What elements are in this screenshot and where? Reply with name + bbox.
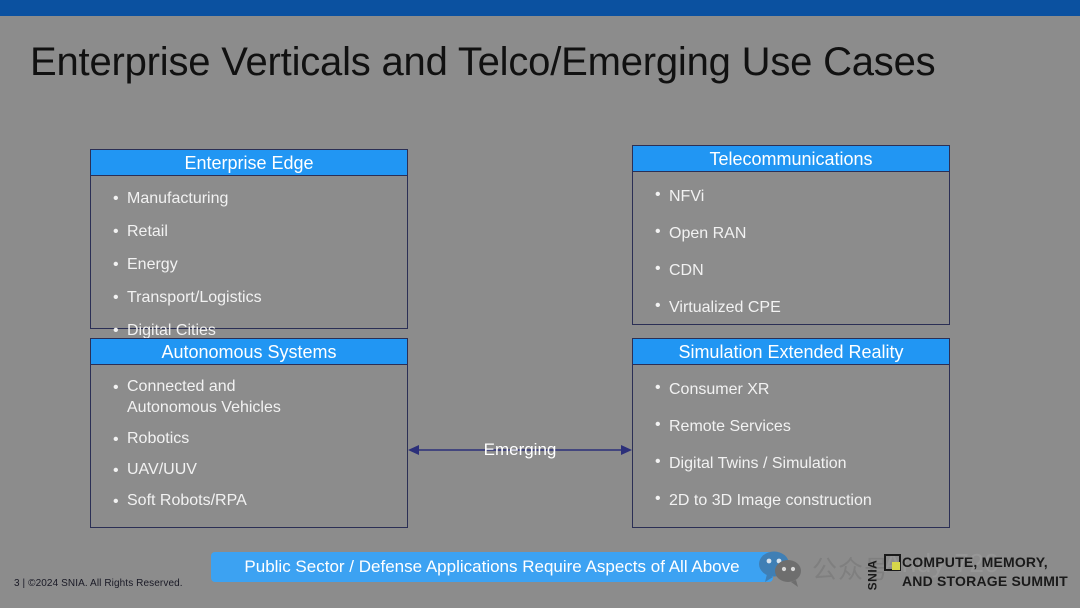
panel-telecommunications: Telecommunications • NFVi • Open RAN • C… (632, 145, 950, 325)
snia-logo: SNIA COMPUTE, MEMORY, AND STORAGE SUMMIT (866, 550, 1080, 598)
panel-autonomous-systems-title: Autonomous Systems (91, 339, 407, 365)
page-title: Enterprise Verticals and Telco/Emerging … (30, 40, 1050, 85)
list-item-label: UAV/UUV (127, 459, 197, 480)
bullet-icon: • (113, 460, 119, 481)
list-item: • Connected and Autonomous Vehicles (91, 371, 407, 423)
snia-brand-mark: SNIA (866, 554, 906, 594)
list-item: • Remote Services (633, 408, 949, 445)
bullet-icon: • (113, 429, 119, 450)
panel-telecommunications-title: Telecommunications (633, 146, 949, 172)
snia-summit-line2: AND STORAGE SUMMIT (902, 572, 1068, 591)
list-item: • Virtualized CPE (633, 289, 949, 326)
list-item: • Retail (91, 215, 407, 248)
snia-summit-line1: COMPUTE, MEMORY, (902, 553, 1068, 572)
list-item: • Transport/Logistics (91, 281, 407, 314)
bullet-icon: • (655, 221, 661, 242)
bullet-icon: • (655, 451, 661, 472)
list-item: • CDN (633, 252, 949, 289)
list-item-label: CDN (669, 260, 704, 281)
list-item: • UAV/UUV (91, 454, 407, 485)
list-item-label: Remote Services (669, 416, 791, 437)
bullet-icon: • (655, 258, 661, 279)
list-item: • Robotics (91, 423, 407, 454)
panel-enterprise-edge-list: • Manufacturing • Retail • Energy • Tran… (91, 176, 407, 351)
list-item-label: NFVi (669, 186, 704, 207)
list-item-label: 2D to 3D Image construction (669, 490, 872, 511)
list-item-label: Manufacturing (127, 188, 228, 209)
panel-autonomous-systems-list: • Connected and Autonomous Vehicles • Ro… (91, 365, 407, 520)
emerging-connector: Emerging (408, 435, 632, 465)
list-item: • Soft Robots/RPA (91, 485, 407, 516)
panel-enterprise-edge-title: Enterprise Edge (91, 150, 407, 176)
list-item-label: Robotics (127, 428, 189, 449)
snia-summit-text: COMPUTE, MEMORY, AND STORAGE SUMMIT (902, 553, 1068, 591)
panel-autonomous-systems: Autonomous Systems • Connected and Auton… (90, 338, 408, 528)
list-item-label: Open RAN (669, 223, 746, 244)
list-item-label: Soft Robots/RPA (127, 490, 247, 511)
panel-simulation-extended-reality-title: Simulation Extended Reality (633, 339, 949, 365)
list-item: • NFVi (633, 178, 949, 215)
panel-enterprise-edge: Enterprise Edge • Manufacturing • Retail… (90, 149, 408, 329)
bullet-icon: • (113, 491, 119, 512)
list-item: • Consumer XR (633, 371, 949, 408)
panel-simulation-extended-reality-list: • Consumer XR • Remote Services • Digita… (633, 365, 949, 523)
list-item-label: Connected and Autonomous Vehicles (127, 376, 281, 418)
bullet-icon: • (655, 488, 661, 509)
list-item: • 2D to 3D Image construction (633, 482, 949, 519)
bullet-icon: • (655, 184, 661, 205)
bullet-icon: • (113, 188, 119, 209)
list-item-label: Transport/Logistics (127, 287, 262, 308)
snia-accent-dot-icon (892, 562, 900, 570)
footer-copyright: 3 | ©2024 SNIA. All Rights Reserved. (14, 578, 183, 589)
bullet-icon: • (655, 377, 661, 398)
list-item-label: Digital Twins / Simulation (669, 453, 847, 474)
panel-telecommunications-list: • NFVi • Open RAN • CDN • Virtualized CP… (633, 172, 949, 330)
bullet-icon: • (655, 414, 661, 435)
list-item: • Manufacturing (91, 182, 407, 215)
bullet-icon: • (113, 254, 119, 275)
list-item: • Open RAN (633, 215, 949, 252)
list-item-label: Energy (127, 254, 178, 275)
list-item-label: Virtualized CPE (669, 297, 781, 318)
list-item-label: Consumer XR (669, 379, 769, 400)
public-sector-banner: Public Sector / Defense Applications Req… (211, 552, 773, 582)
bullet-icon: • (113, 287, 119, 308)
list-item-label: Retail (127, 221, 168, 242)
wechat-icon (758, 549, 804, 589)
bullet-icon: • (655, 295, 661, 316)
bullet-icon: • (113, 221, 119, 242)
list-item: • Digital Twins / Simulation (633, 445, 949, 482)
snia-brand-text: SNIA (865, 560, 879, 591)
emerging-connector-label: Emerging (408, 435, 632, 465)
list-item: • Energy (91, 248, 407, 281)
top-accent-bar (0, 0, 1080, 16)
bullet-icon: • (113, 377, 119, 398)
panel-simulation-extended-reality: Simulation Extended Reality • Consumer X… (632, 338, 950, 528)
